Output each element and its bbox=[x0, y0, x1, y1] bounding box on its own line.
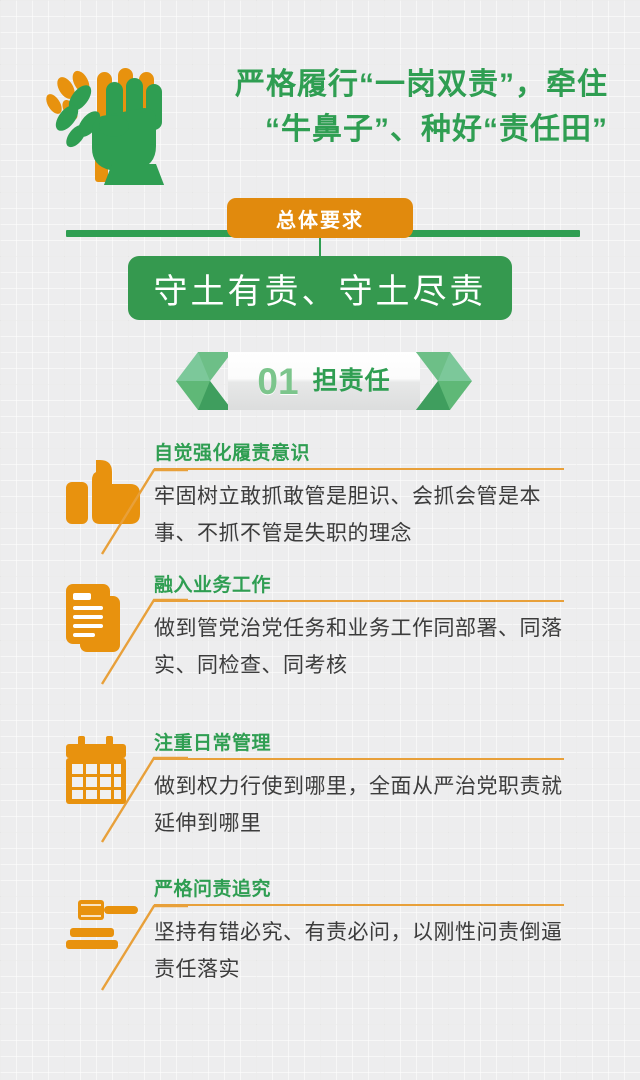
header: 严格履行“一岗双责”，牵住 “牛鼻子”、种好“责任田” bbox=[0, 56, 640, 186]
item-underline bbox=[154, 600, 564, 602]
item-body: 坚持有错必究、有责必问，以刚性问责倒逼责任落实 bbox=[154, 914, 574, 988]
item-title: 注重日常管理 bbox=[154, 728, 271, 755]
item-body: 牢固树立敢抓敢管是胆识、会抓会管是本事、不抓不管是失职的理念 bbox=[154, 478, 574, 552]
banner-right-wing bbox=[416, 352, 472, 410]
section-number: 01 bbox=[257, 363, 298, 400]
item-underline bbox=[154, 904, 564, 906]
overview-statement: 守土有责、守土尽责 bbox=[128, 256, 512, 320]
item-body: 做到管党治党任务和业务工作同部署、同落实、同检查、同考核 bbox=[154, 610, 574, 684]
item-title: 融入业务工作 bbox=[154, 570, 271, 597]
section-banner: 01 担责任 bbox=[176, 352, 472, 410]
infographic-page: 严格履行“一岗双责”，牵住 “牛鼻子”、种好“责任田” 总体要求 守土有责、守土… bbox=[0, 0, 640, 1080]
banner-center: 01 担责任 bbox=[228, 352, 420, 410]
item-body: 做到权力行使到哪里，全面从严治党职责就延伸到哪里 bbox=[154, 768, 574, 842]
page-title: 严格履行“一岗双责”，牵住 “牛鼻子”、种好“责任田” bbox=[146, 62, 608, 152]
section-label: 担责任 bbox=[313, 369, 391, 394]
item-title: 严格问责追究 bbox=[154, 874, 271, 901]
badge-connector-line bbox=[319, 238, 321, 256]
item-title: 自觉强化履责意识 bbox=[154, 438, 310, 465]
banner-left-wing bbox=[176, 352, 232, 410]
item-underline bbox=[154, 468, 564, 470]
item-underline bbox=[154, 758, 564, 760]
overview-badge: 总体要求 bbox=[227, 198, 413, 238]
